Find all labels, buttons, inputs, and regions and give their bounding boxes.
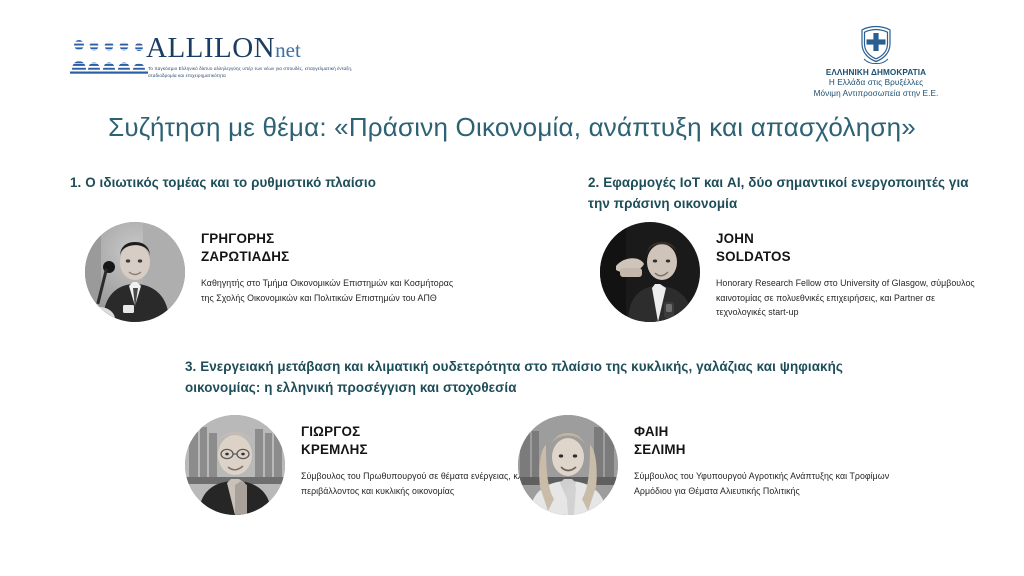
speaker-first-name: ΦΑΙΗ (634, 423, 894, 441)
allilon-net-logo: ALLILONnet Το παγκόσμιο Ελληνικό δίκτυο … (70, 32, 370, 90)
slide-title: Συζήτηση με θέμα: «Πράσινη Οικονομία, αν… (0, 112, 1024, 143)
presentation-slide: ALLILONnet Το παγκόσμιο Ελληνικό δίκτυο … (0, 0, 1024, 576)
portrait-photo-grayscale (600, 222, 700, 322)
speaker-text-soldatos: JOHN SOLDATOS Honorary Research Fellow σ… (716, 222, 976, 320)
session-2-heading: 2. Εφαρμογές IoT και AI, δύο σημαντικοί … (588, 172, 988, 214)
speaker-card-zarotiadis: ΓΡΗΓΟΡΗΣ ΖΑΡΩΤΙΑΔΗΣ Καθηγητής στο Τμήμα … (85, 222, 465, 322)
session-3-heading: 3. Ενεργειακή μετάβαση και κλιματική ουδ… (185, 356, 885, 398)
speaker-bio-zarotiadis: Καθηγητής στο Τμήμα Οικονομικών Επιστημώ… (201, 276, 461, 305)
speaker-text-zarotiadis: ΓΡΗΓΟΡΗΣ ΖΑΡΩΤΙΑΔΗΣ Καθηγητής στο Τμήμα … (201, 222, 461, 305)
portrait-photo-grayscale (185, 415, 285, 515)
emblem-line-2: Η Ελλάδα στις Βρυξέλλες (776, 78, 976, 88)
speaker-name-soldatos: JOHN SOLDATOS (716, 230, 976, 265)
emblem-line-3: Μόνιμη Αντιπροσωπεία στην Ε.Ε. (776, 89, 976, 99)
speaker-portrait-kremlis (185, 415, 285, 515)
emblem-line-1: ΕΛΛΗΝΙΚΗ ΔΗΜΟΚΡΑΤΙΑ (776, 68, 976, 78)
logo-wordmark: ALLILONnet (146, 32, 301, 65)
logo-wordmark-suffix: net (275, 38, 301, 62)
speaker-card-selimi: ΦΑΙΗ ΣΕΛΙΜΗ Σύμβουλος του Υφυπουργού Αγρ… (518, 415, 898, 515)
speaker-first-name: ΓΡΗΓΟΡΗΣ (201, 230, 461, 248)
speaker-last-name: SOLDATOS (716, 248, 976, 266)
portrait-photo-grayscale (518, 415, 618, 515)
speaker-portrait-selimi (518, 415, 618, 515)
speaker-bio-selimi: Σύμβουλος του Υφυπουργού Αγροτικής Ανάπτ… (634, 469, 894, 498)
speaker-bio-soldatos: Honorary Research Fellow στο University … (716, 276, 976, 320)
speaker-portrait-zarotiadis (85, 222, 185, 322)
emblem-text: ΕΛΛΗΝΙΚΗ ΔΗΜΟΚΡΑΤΙΑ Η Ελλάδα στις Βρυξέλ… (776, 68, 976, 99)
speaker-first-name: JOHN (716, 230, 976, 248)
speaker-name-zarotiadis: ΓΡΗΓΟΡΗΣ ΖΑΡΩΤΙΑΔΗΣ (201, 230, 461, 265)
speaker-card-soldatos: JOHN SOLDATOS Honorary Research Fellow σ… (600, 222, 1000, 322)
speaker-last-name: ΖΑΡΩΤΙΑΔΗΣ (201, 248, 461, 266)
greek-flag-people-icon (70, 36, 148, 76)
hellenic-republic-shield-icon (857, 24, 895, 64)
speaker-text-selimi: ΦΑΙΗ ΣΕΛΙΜΗ Σύμβουλος του Υφυπουργού Αγρ… (634, 415, 894, 498)
speaker-card-kremlis: ΓΙΩΡΓΟΣ ΚΡΕΜΛΗΣ Σύμβουλος του Πρωθυπουργ… (185, 415, 565, 515)
speaker-portrait-soldatos (600, 222, 700, 322)
hellenic-republic-emblem: ΕΛΛΗΝΙΚΗ ΔΗΜΟΚΡΑΤΙΑ Η Ελλάδα στις Βρυξέλ… (776, 24, 976, 99)
portrait-photo-grayscale (85, 222, 185, 322)
logo-wordmark-main: ALLILON (146, 32, 275, 64)
logo-tagline: Το παγκόσμιο Ελληνικό δίκτυο αλληλεγγύης… (148, 65, 373, 79)
speaker-last-name: ΣΕΛΙΜΗ (634, 441, 894, 459)
session-1-heading: 1. Ο ιδιωτικός τομέας και το ρυθμιστικό … (70, 172, 500, 193)
speaker-name-selimi: ΦΑΙΗ ΣΕΛΙΜΗ (634, 423, 894, 458)
